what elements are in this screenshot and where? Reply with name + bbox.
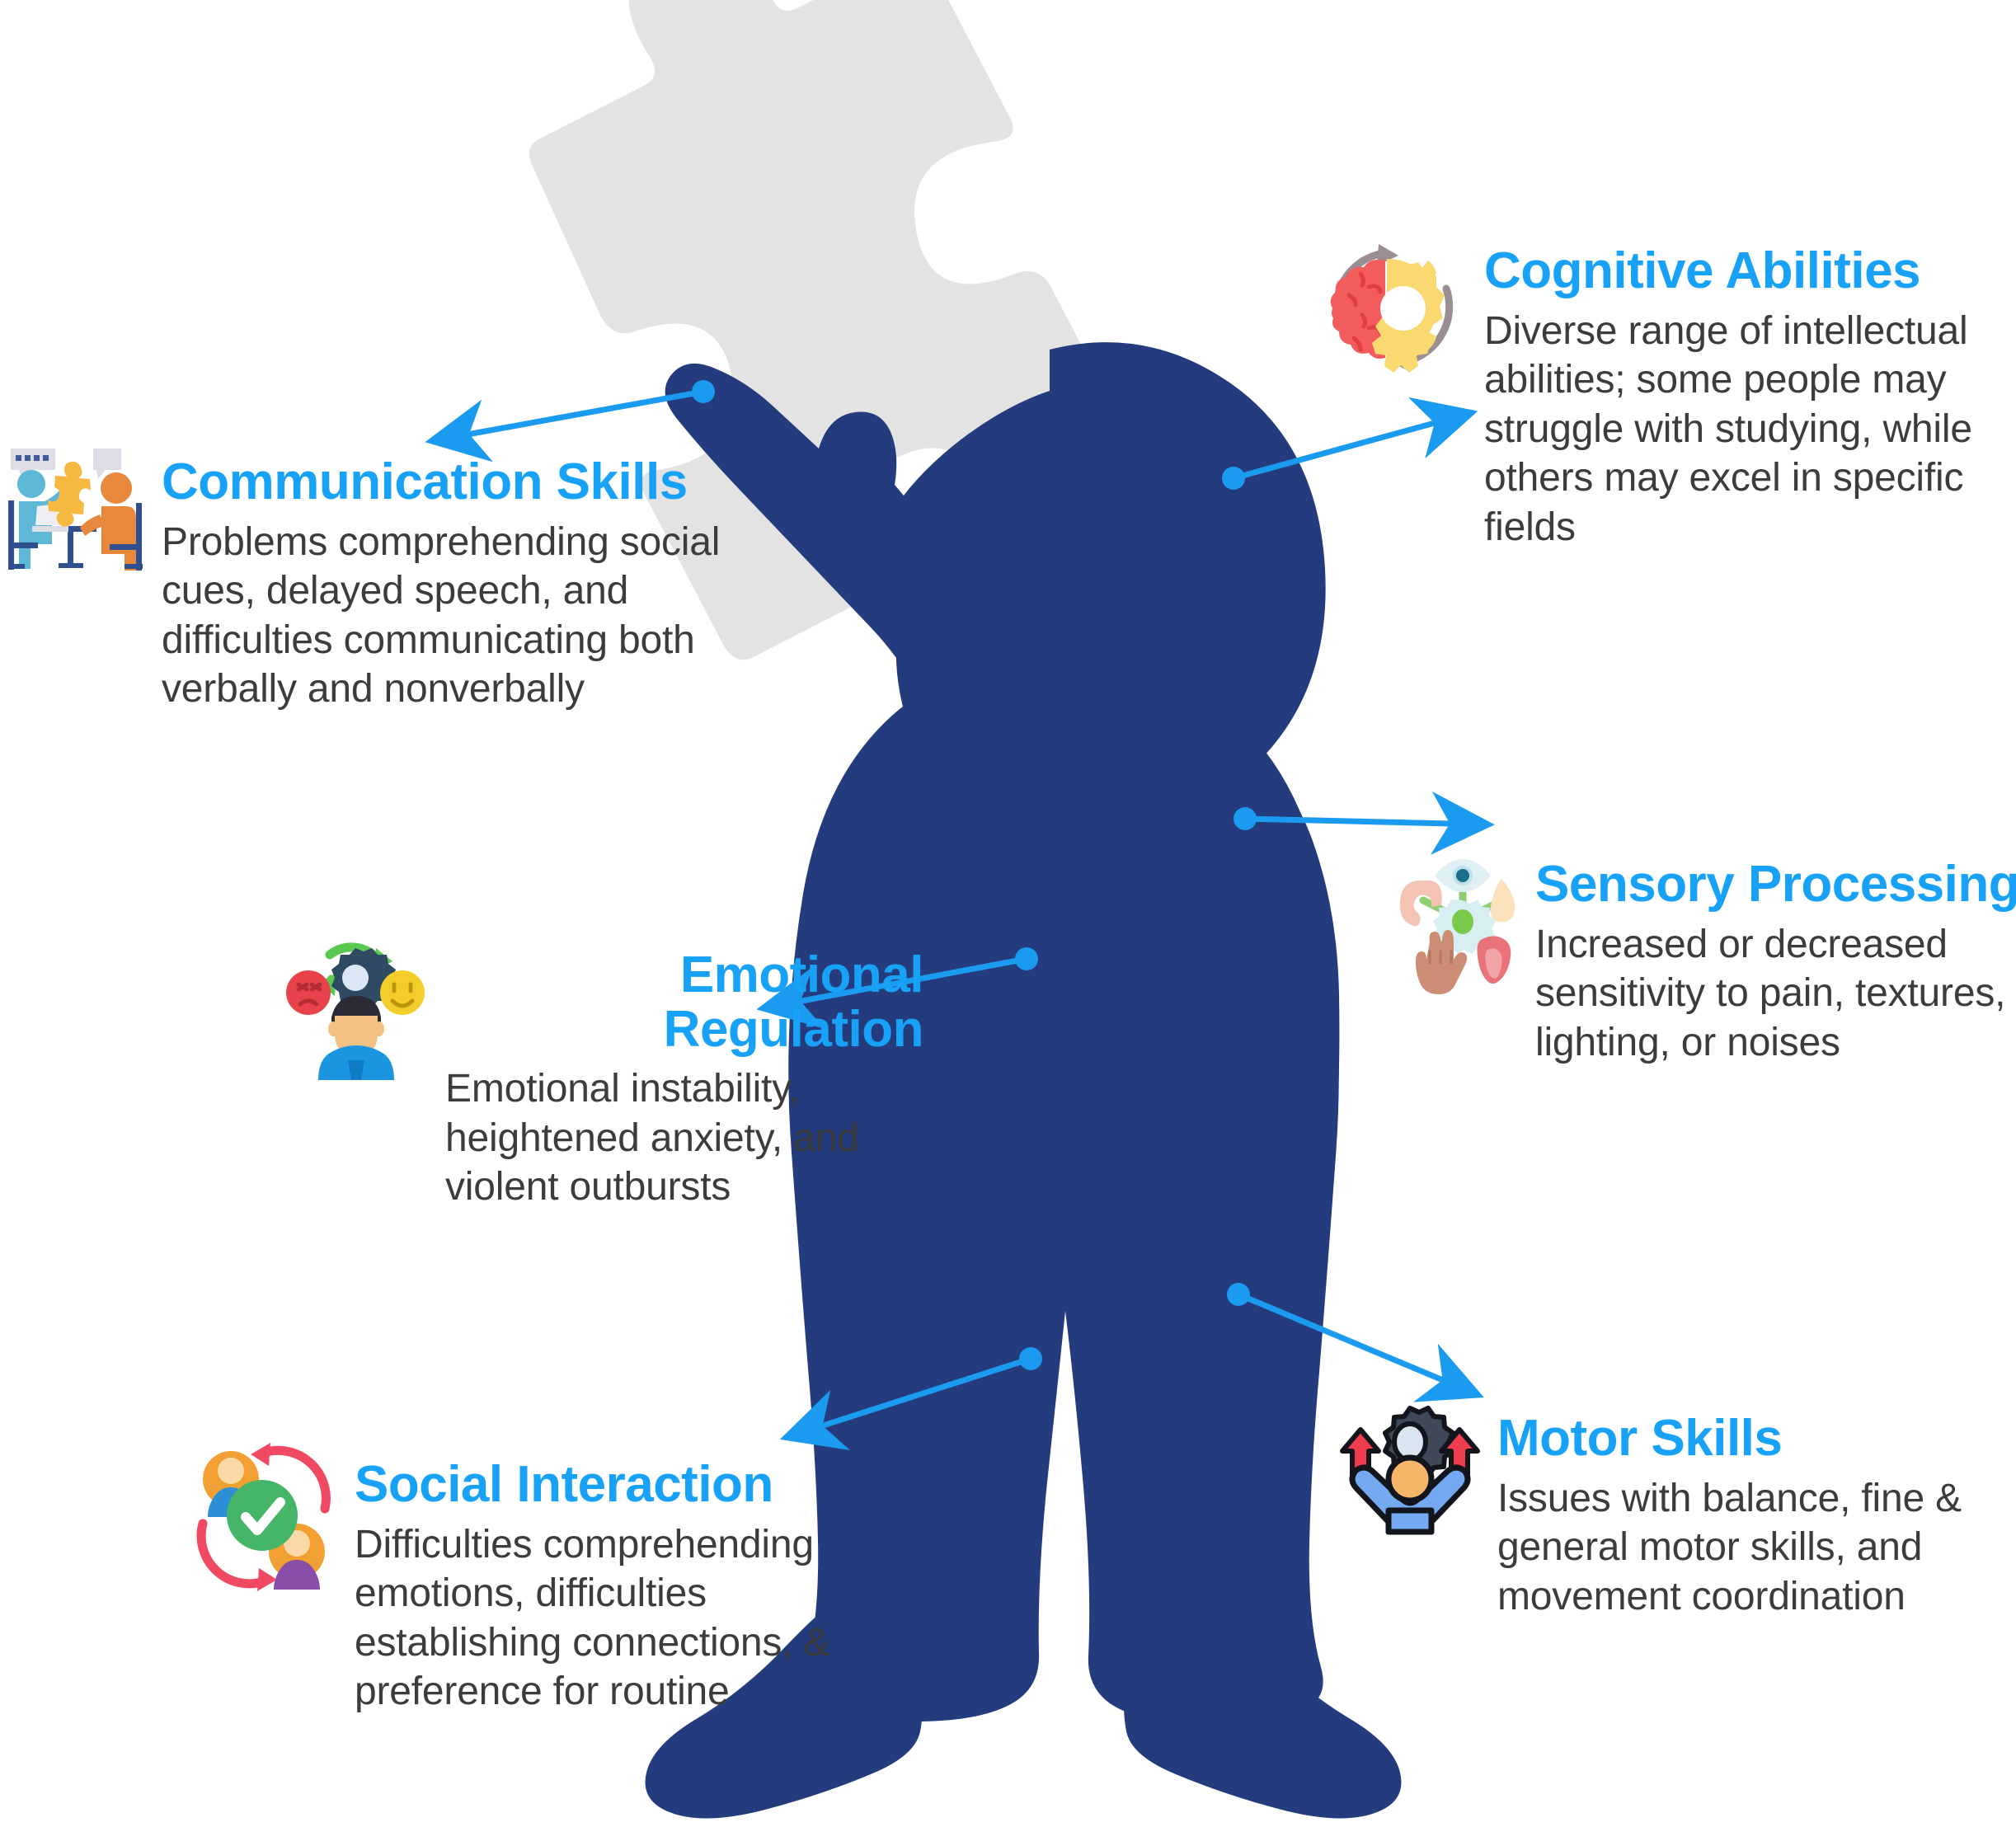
connector-motor: [1238, 1294, 1474, 1393]
connector-social: [790, 1359, 1031, 1436]
connector-dot-social: [1019, 1347, 1042, 1370]
block-title-motor-skills: Motor Skills: [1497, 1411, 2009, 1466]
person-arms-up-gear-icon: [1336, 1403, 1484, 1552]
connector-dot-emotional: [1015, 947, 1038, 970]
block-body-emotional-regulation: Emotional instability, heightened anxiet…: [445, 1064, 923, 1212]
block-title-communication-skills: Communication Skills: [162, 455, 739, 510]
block-title-emotional-regulation: Emotional Regulation: [445, 948, 923, 1056]
connector-dot-motor: [1227, 1283, 1250, 1306]
block-social-interaction: Social Interaction Difficulties comprehe…: [355, 1458, 882, 1717]
connector-cognitive: [1234, 414, 1468, 478]
infographic-canvas: Communication Skills Problems comprehend…: [0, 0, 2016, 1827]
block-body-motor-skills: Issues with balance, fine & general moto…: [1497, 1474, 2009, 1622]
brain-gear-cycle-icon: [1321, 236, 1465, 380]
connector-dot-sensory: [1234, 807, 1257, 830]
connector-sensory: [1245, 819, 1484, 824]
block-body-sensory-processing: Increased or decreased sensitivity to pa…: [1535, 920, 2016, 1068]
block-body-cognitive-abilities: Diverse range of intellectual abilities;…: [1484, 307, 2004, 552]
block-sensory-processing: Sensory Processing Increased or decrease…: [1535, 857, 2016, 1067]
people-exchange-check-icon: [188, 1441, 341, 1594]
person-emotions-gear-icon: [284, 937, 428, 1081]
block-body-social-interaction: Difficulties comprehending emotions, dif…: [355, 1520, 882, 1717]
block-title-sensory-processing: Sensory Processing: [1535, 857, 2016, 912]
connector-dot-cognitive: [1222, 467, 1245, 490]
connector-dot-communication: [692, 380, 715, 403]
block-title-cognitive-abilities: Cognitive Abilities: [1484, 244, 2004, 298]
block-emotional-regulation: Emotional Regulation Emotional instabili…: [445, 948, 923, 1212]
block-title-social-interaction: Social Interaction: [355, 1458, 882, 1512]
two-people-table-puzzle-icon: [4, 439, 153, 587]
five-senses-icon: [1395, 852, 1531, 989]
connector-communication: [435, 392, 703, 440]
block-cognitive-abilities: Cognitive Abilities Diverse range of int…: [1484, 244, 2004, 552]
block-communication-skills: Communication Skills Problems comprehend…: [162, 455, 739, 714]
block-body-communication-skills: Problems comprehending social cues, dela…: [162, 518, 739, 714]
block-motor-skills: Motor Skills Issues with balance, fine &…: [1497, 1411, 2009, 1621]
